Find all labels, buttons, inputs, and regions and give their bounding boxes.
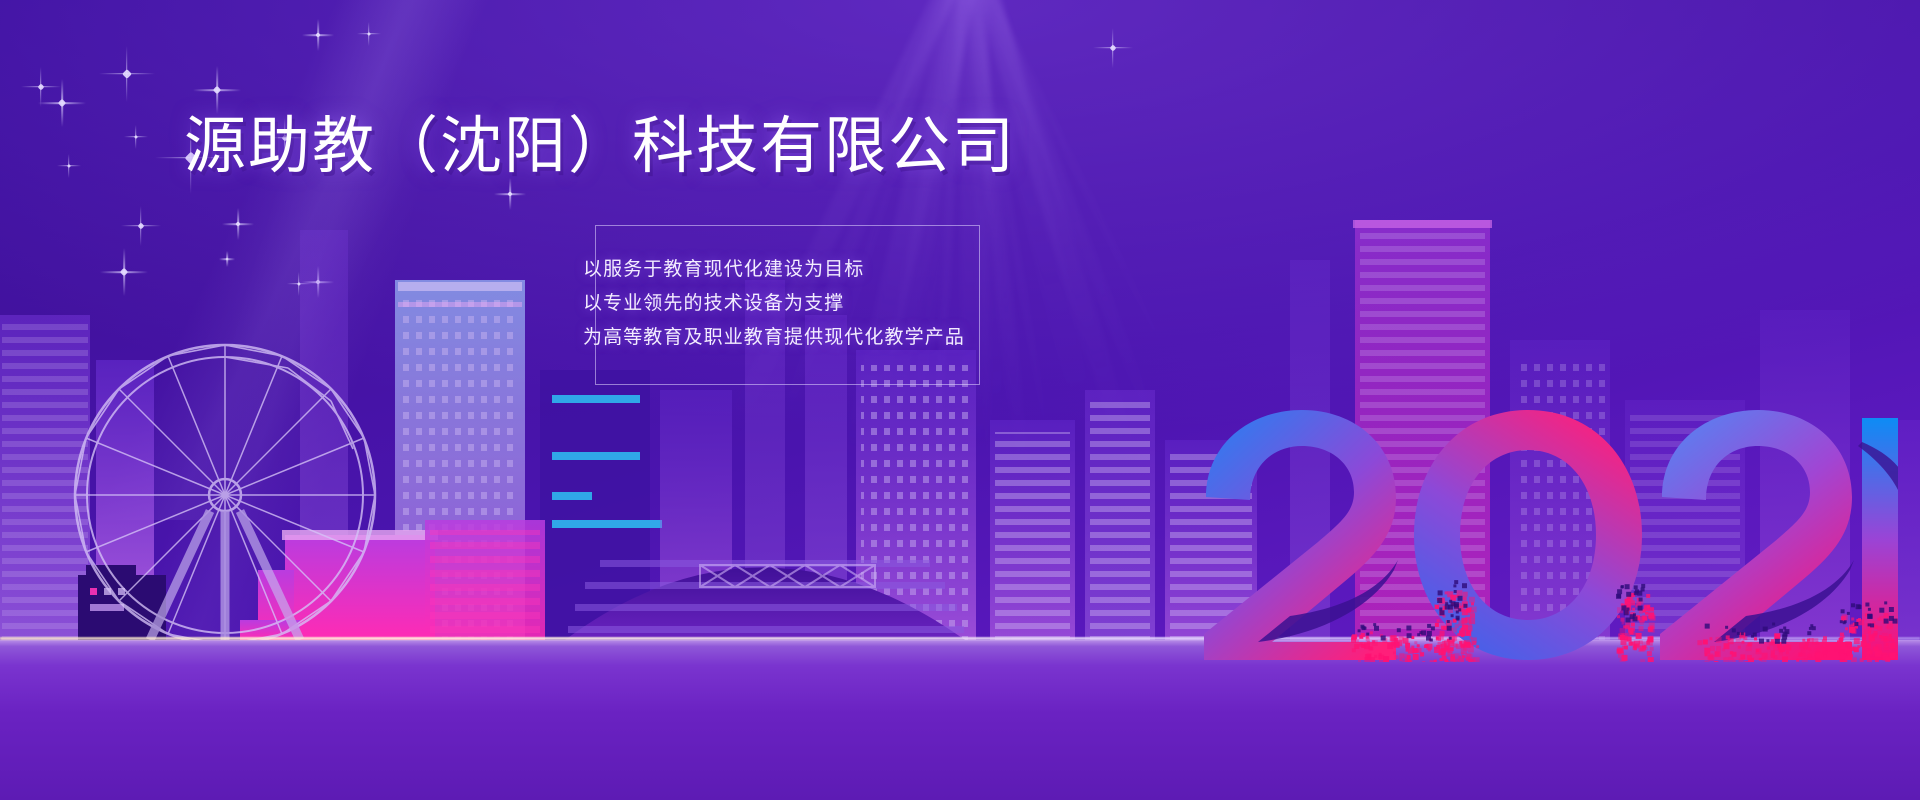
tagline-line-1: 以服务于教育现代化建设为目标: [583, 253, 1103, 287]
digit-2-second: [1660, 410, 1854, 660]
star-icon: [355, 20, 382, 47]
ground-plane: [0, 640, 1920, 800]
tagline-list: 以服务于教育现代化建设为目标 以专业领先的技术设备为支撑 为高等教育及职业教育提…: [583, 253, 1103, 355]
tagline-line-2: 以专业领先的技术设备为支撑: [583, 287, 1103, 321]
year-graphic: [1198, 402, 1898, 662]
promo-banner: 源助教（沈阳）科技有限公司 以服务于教育现代化建设为目标 以专业领先的技术设备为…: [0, 0, 1920, 800]
star-icon: [18, 64, 63, 109]
page-title: 源助教（沈阳）科技有限公司: [0, 110, 1200, 183]
star-icon: [1090, 25, 1135, 70]
star-icon: [95, 42, 158, 105]
digit-2-first: [1204, 410, 1398, 660]
star-icon: [190, 63, 244, 117]
star-icon: [300, 17, 336, 53]
tagline-line-3: 为高等教育及职业教育提供现代化教学产品: [583, 321, 1103, 355]
